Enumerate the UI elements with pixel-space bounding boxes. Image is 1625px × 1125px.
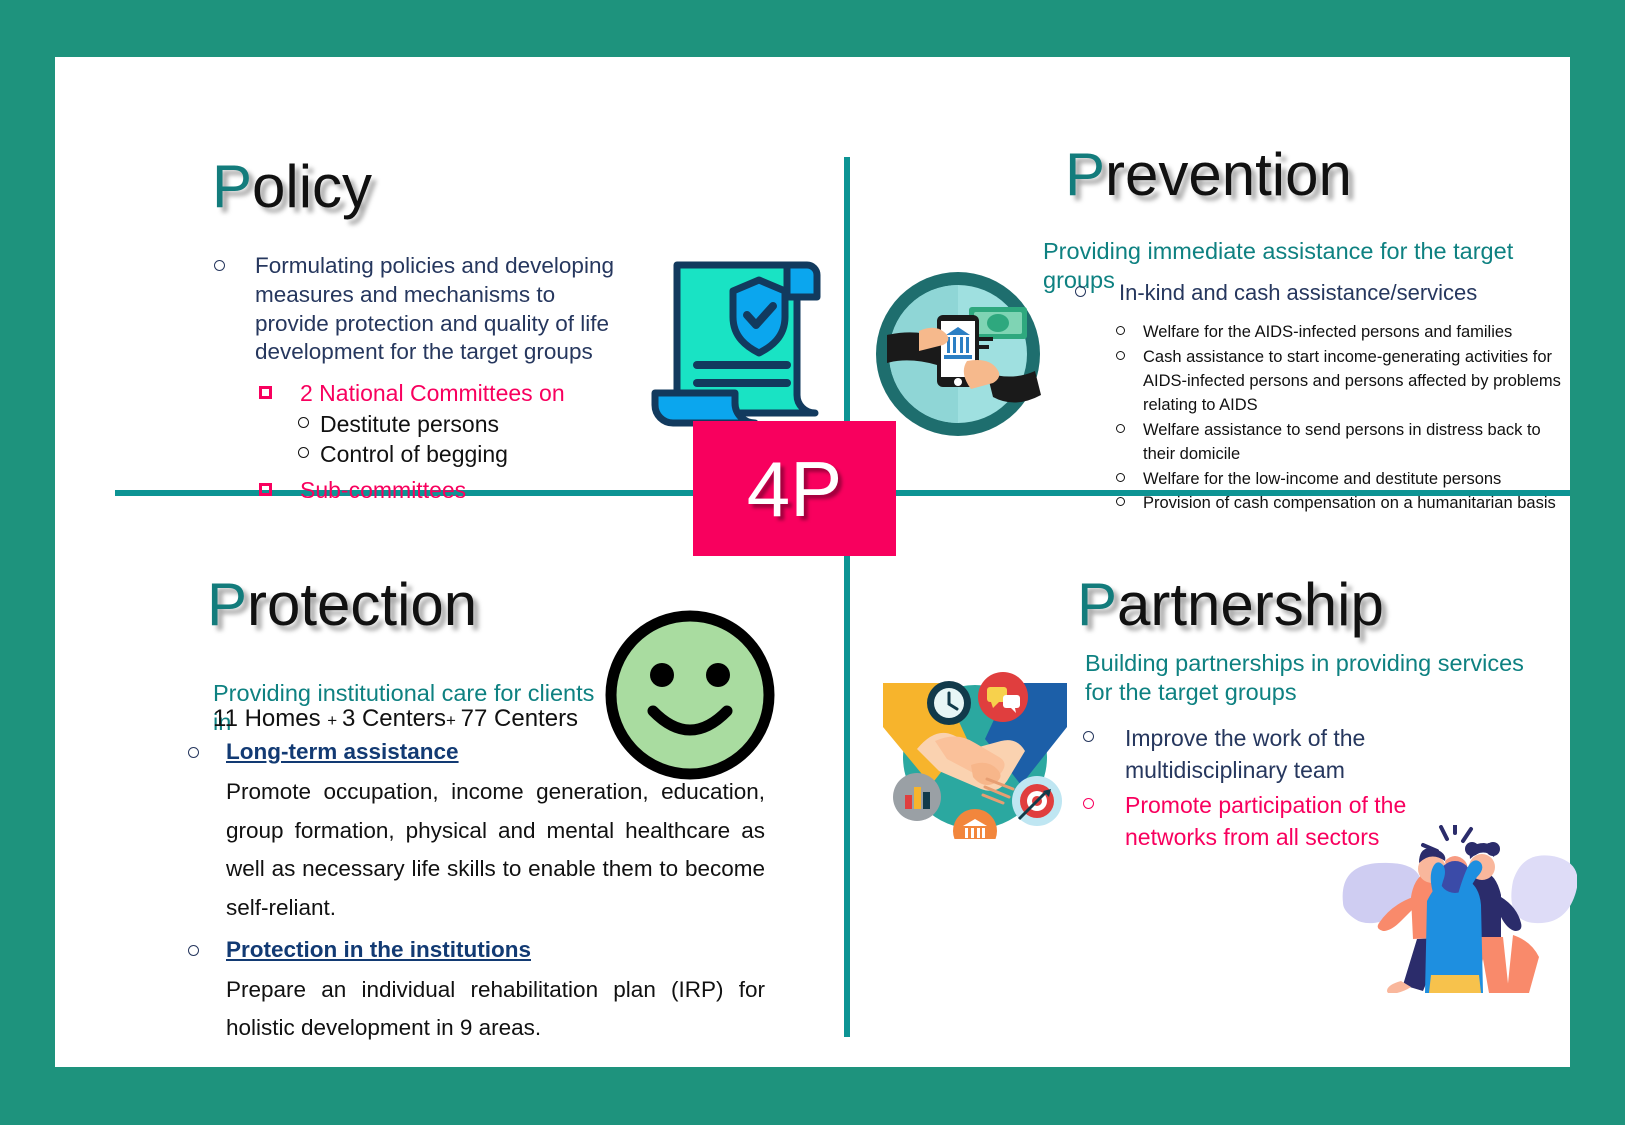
prevention-sub-list: Welfare for the AIDS-infected persons an… xyxy=(1113,321,1573,517)
handshake-partnership-icon xyxy=(875,645,1075,839)
vertical-divider xyxy=(844,157,850,1037)
policy-sub-item-0: 2 National Committees on xyxy=(300,380,565,406)
list-item: Sub-committees xyxy=(255,476,615,506)
policy-sub-item-2: Control of begging xyxy=(303,439,508,469)
prevention-sub-4: Provision of cash compensation on a huma… xyxy=(1143,494,1556,512)
scroll-shield-document-icon xyxy=(647,253,837,438)
prevention-main-bullet: In-kind and cash assistance/services xyxy=(1073,279,1589,307)
prevention-sub-0: Welfare for the AIDS-infected persons an… xyxy=(1143,323,1512,341)
prevention-title: Prevention xyxy=(1065,145,1352,205)
policy-main-bullet-list: Formulating policies and developing meas… xyxy=(210,252,630,383)
circle-bullet-icon xyxy=(1075,286,1086,297)
protection-item-list: Long-term assistance Promote occupation,… xyxy=(185,739,765,1057)
policy-sub-item-3: Sub-committees xyxy=(300,477,466,503)
prevention-sub-1: Cash assistance to start income-generati… xyxy=(1143,348,1561,414)
prevention-title-rest: revention xyxy=(1105,141,1352,208)
protection-item-heading-1: Protection in the institutions xyxy=(185,937,765,963)
circle-bullet-icon xyxy=(188,945,199,956)
circle-bullet-icon xyxy=(1083,798,1094,809)
prevention-title-cap: P xyxy=(1065,141,1105,208)
protection-heading-text-1: Protection in the institutions xyxy=(226,937,531,962)
square-bullet-icon xyxy=(259,483,272,496)
list-item: 2 National Committees on xyxy=(255,379,615,409)
list-item: Welfare for the low-income and destitute… xyxy=(1113,468,1573,492)
list-item: Welfare for the AIDS-infected persons an… xyxy=(1113,321,1573,345)
protection-heading-text-0: Long-term assistance xyxy=(226,739,459,764)
circle-bullet-icon xyxy=(1116,351,1125,360)
protection-count-c: 77 Centers xyxy=(461,705,578,732)
policy-sub-list: 2 National Committees on Destitute perso… xyxy=(255,379,615,506)
protection-item-body-1: Prepare an individual rehabilitation pla… xyxy=(185,971,765,1048)
circle-bullet-icon xyxy=(1116,497,1125,506)
policy-title-cap: P xyxy=(212,153,252,220)
list-item: Improve the work of the multidisciplinar… xyxy=(1077,723,1437,786)
protection-count-plus2: + xyxy=(446,711,461,730)
protection-title-cap: P xyxy=(207,571,247,638)
list-item: Control of begging xyxy=(255,439,615,469)
protection-title: Protection xyxy=(207,575,477,635)
partnership-item-0: Improve the work of the multidisciplinar… xyxy=(1125,725,1365,783)
prevention-sub-2: Welfare assistance to send persons in di… xyxy=(1143,421,1541,463)
center-4p-label: 4P xyxy=(747,450,842,528)
list-item: Formulating policies and developing meas… xyxy=(210,252,630,367)
partnership-title-rest: artnership xyxy=(1117,571,1384,638)
circle-bullet-icon xyxy=(1116,326,1125,335)
circle-bullet-icon xyxy=(298,417,309,428)
circle-bullet-icon xyxy=(1083,731,1094,742)
protection-count-plus1: + xyxy=(327,711,342,730)
protection-item-body-0: Promote occupation, income generation, e… xyxy=(185,773,765,928)
slide-canvas: Policy Formulating policies and developi… xyxy=(55,57,1570,1067)
smiley-face-icon xyxy=(599,609,781,781)
policy-sub-item-1: Destitute persons xyxy=(303,409,499,439)
prevention-sub-3: Welfare for the low-income and destitute… xyxy=(1143,470,1501,488)
group-high-five-illustration xyxy=(1327,825,1577,993)
square-bullet-icon xyxy=(259,386,272,399)
protection-count-line: 11 Homes + 3 Centers+ 77 Centers xyxy=(213,705,578,733)
mobile-banking-circle-icon xyxy=(873,269,1043,439)
center-4p-badge: 4P xyxy=(693,421,896,556)
protection-count-a: 11 Homes xyxy=(213,705,327,732)
prevention-main-bullet-text: In-kind and cash assistance/services xyxy=(1119,280,1477,305)
circle-bullet-icon xyxy=(214,260,225,271)
circle-bullet-icon xyxy=(1116,473,1125,482)
protection-count-b: 3 Centers xyxy=(342,705,446,732)
list-item: Cash assistance to start income-generati… xyxy=(1113,346,1573,418)
partnership-title: Partnership xyxy=(1077,575,1384,635)
partnership-subtitle: Building partnerships in providing servi… xyxy=(1085,649,1525,706)
policy-title-rest: olicy xyxy=(252,153,372,220)
list-item: Provision of cash compensation on a huma… xyxy=(1113,492,1573,516)
list-item: Welfare assistance to send persons in di… xyxy=(1113,419,1573,467)
circle-bullet-icon xyxy=(188,747,199,758)
circle-bullet-icon xyxy=(1116,424,1125,433)
list-item: Destitute persons xyxy=(255,409,615,439)
policy-main-bullet-text: Formulating policies and developing meas… xyxy=(255,253,614,364)
partnership-title-cap: P xyxy=(1077,571,1117,638)
policy-title: Policy xyxy=(212,157,372,217)
protection-title-rest: rotection xyxy=(247,571,477,638)
